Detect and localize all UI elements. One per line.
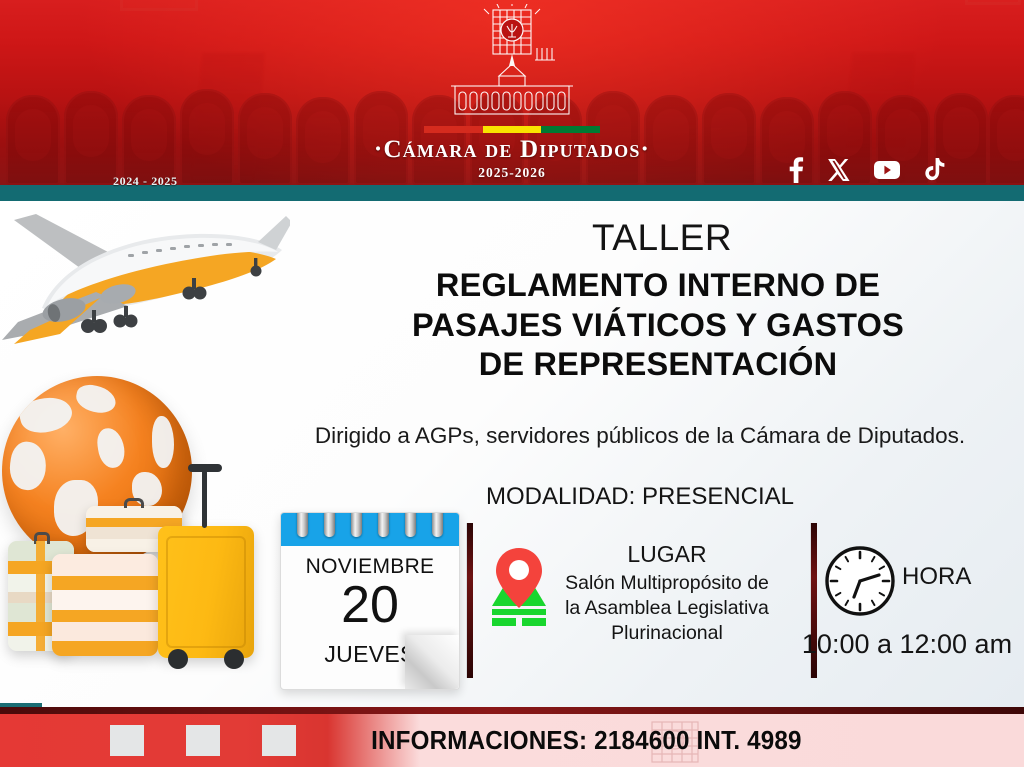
poster-body: TALLER REGLAMENTO INTERNO DE PASAJES VIÁ… [0,201,1024,707]
calendar-icon: NOVIEMBRE 20 JUEVES [280,512,460,690]
event-day: 20 [281,577,459,633]
time-label: HORA [902,563,971,591]
institution-logo: ·Cámara de Diputados· 2025-2026 [0,4,1024,181]
suitcase-icon [158,526,254,658]
workshop-kicker: TALLER [300,217,1024,259]
clock-icon [822,543,898,619]
contact-info: INFORMACIONES: 2184600 INT. 4989 [36,714,988,767]
bolivia-flag-bar [424,126,600,133]
social-links [787,157,946,183]
place-line-1: Salón Multipropósito de [532,571,802,596]
tiktok-icon[interactable] [924,158,946,183]
travel-artwork [0,201,290,696]
youtube-icon[interactable] [874,160,900,180]
place-line-2: la Asamblea Legislativa [532,596,802,621]
government-building-emblem-icon [437,4,587,124]
teal-strip: 2024 - 2025 [0,185,1024,201]
airplane-icon [0,206,290,386]
title-line-3: DE REPRESENTACIÓN [292,345,1024,385]
page-footer: INFORMACIONES: 2184600 INT. 4989 [0,714,1024,767]
place-line-3: Plurinacional [532,621,802,646]
place-label: LUGAR [542,541,792,568]
footer-dark-rule [0,707,1024,714]
legislature-year: 2024 - 2025 [113,174,178,189]
calendar-ring [297,512,308,537]
page-curl [405,635,459,689]
x-twitter-icon[interactable] [828,158,850,182]
suitcase-icon [52,554,158,656]
title-line-2: PASAJES VIÁTICOS Y GASTOS [292,306,1024,346]
page-title: REGLAMENTO INTERNO DE PASAJES VIÁTICOS Y… [292,266,1024,385]
calendar-ring [324,512,335,537]
place-value: Salón Multipropósito de la Asamblea Legi… [532,571,802,646]
title-line-1: REGLAMENTO INTERNO DE [292,266,1024,306]
page-header: ·Cámara de Diputados· 2025-2026 [0,0,1024,185]
calendar-ring [405,512,416,537]
section-divider [466,523,473,678]
audience-text: Dirigido a AGPs, servidores públicos de … [256,423,1024,449]
time-value: 10:00 a 12:00 am [790,629,1024,660]
event-details-strip: NOVIEMBRE 20 JUEVES LUGAR Salón Multipro… [270,501,1024,701]
facebook-icon[interactable] [787,157,804,183]
calendar-ring [351,512,362,537]
calendar-ring [432,512,443,537]
calendar-ring [378,512,389,537]
